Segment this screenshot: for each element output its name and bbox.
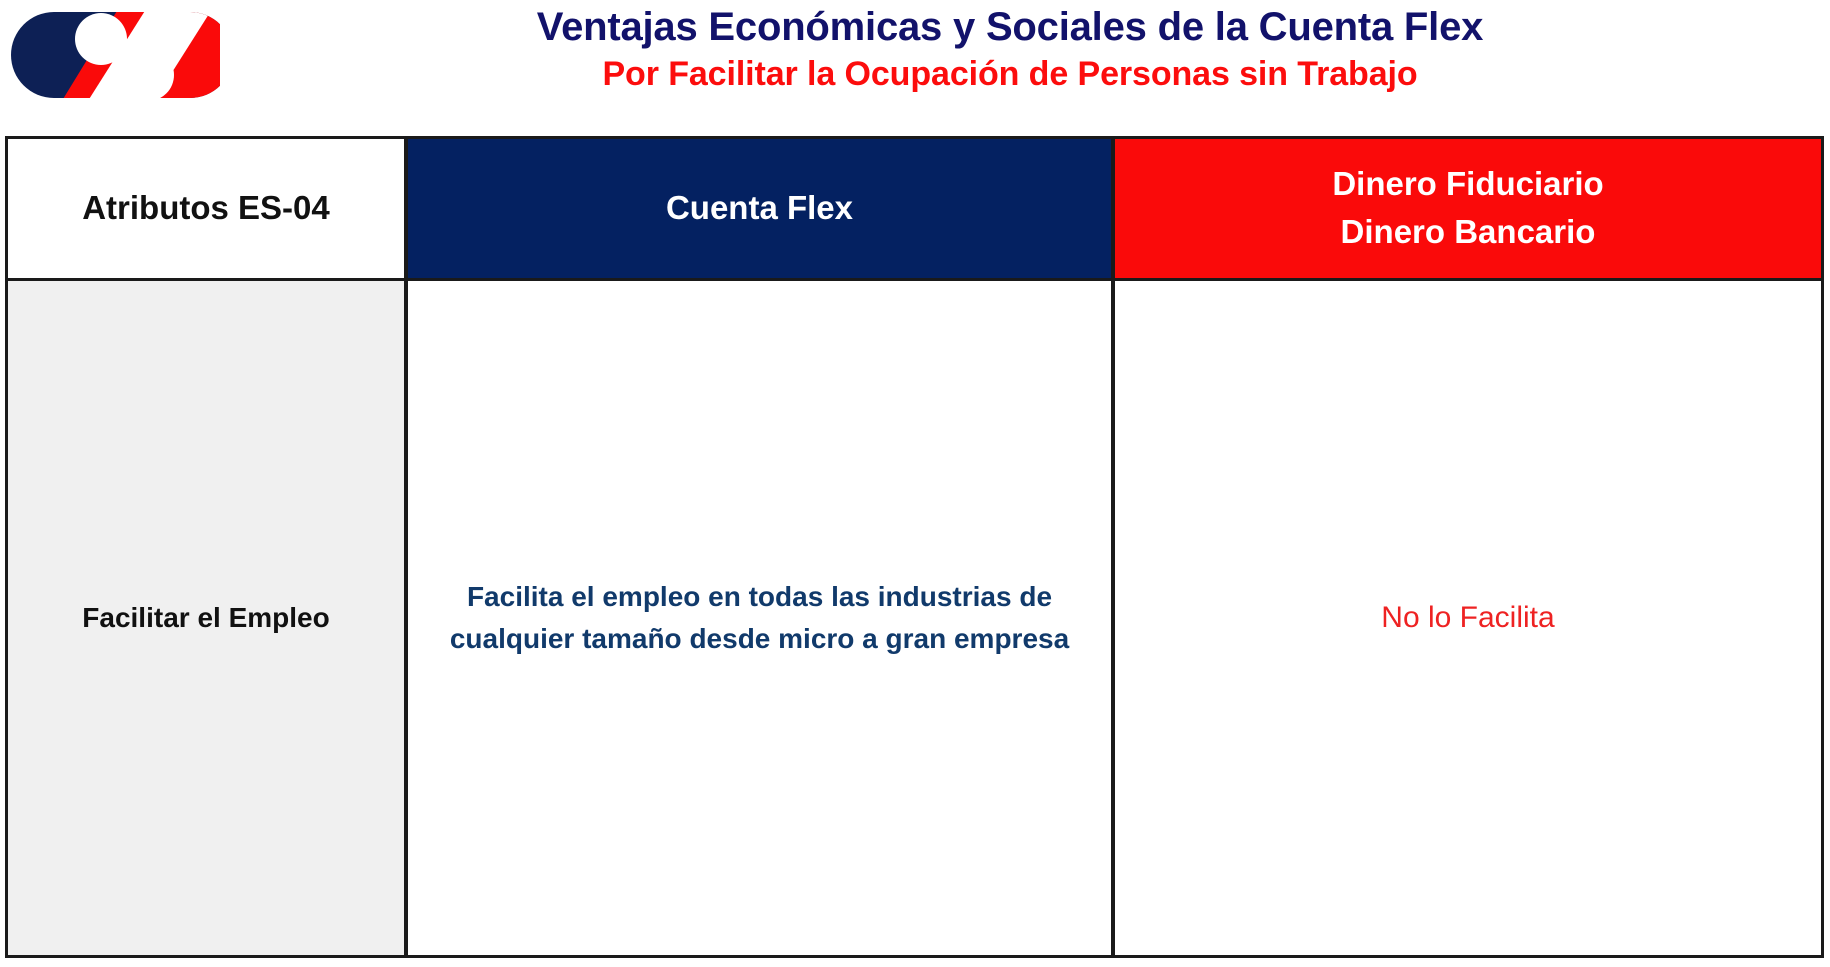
page-header: Ventajas Económicas y Sociales de la Cue… [0,0,1830,118]
company-logo [8,6,220,104]
comparison-table-container: Atributos ES-04 Cuenta Flex Dinero Fiduc… [5,136,1824,958]
table-header-row: Atributos ES-04 Cuenta Flex Dinero Fiduc… [8,139,1821,279]
page-subtitle: Por Facilitar la Ocupación de Personas s… [602,52,1417,96]
column-header-fiat-line1: Dinero Fiduciario [1332,165,1603,202]
row-attribute-label: Facilitar el Empleo [8,279,406,955]
cell-cuenta-flex-value: Facilita el empleo en todas las industri… [406,279,1113,955]
page-title: Ventajas Económicas y Sociales de la Cue… [537,2,1483,52]
column-header-cuenta-flex: Cuenta Flex [406,139,1113,279]
column-header-attributes: Atributos ES-04 [8,139,406,279]
column-header-fiat-money: Dinero Fiduciario Dinero Bancario [1113,139,1821,279]
title-block: Ventajas Económicas y Sociales de la Cue… [230,0,1790,112]
table-row: Facilitar el Empleo Facilita el empleo e… [8,279,1821,955]
column-header-fiat-line2: Dinero Bancario [1115,208,1821,256]
comparison-table: Atributos ES-04 Cuenta Flex Dinero Fiduc… [8,139,1821,955]
cell-fiat-money-value: No lo Facilita [1113,279,1821,955]
